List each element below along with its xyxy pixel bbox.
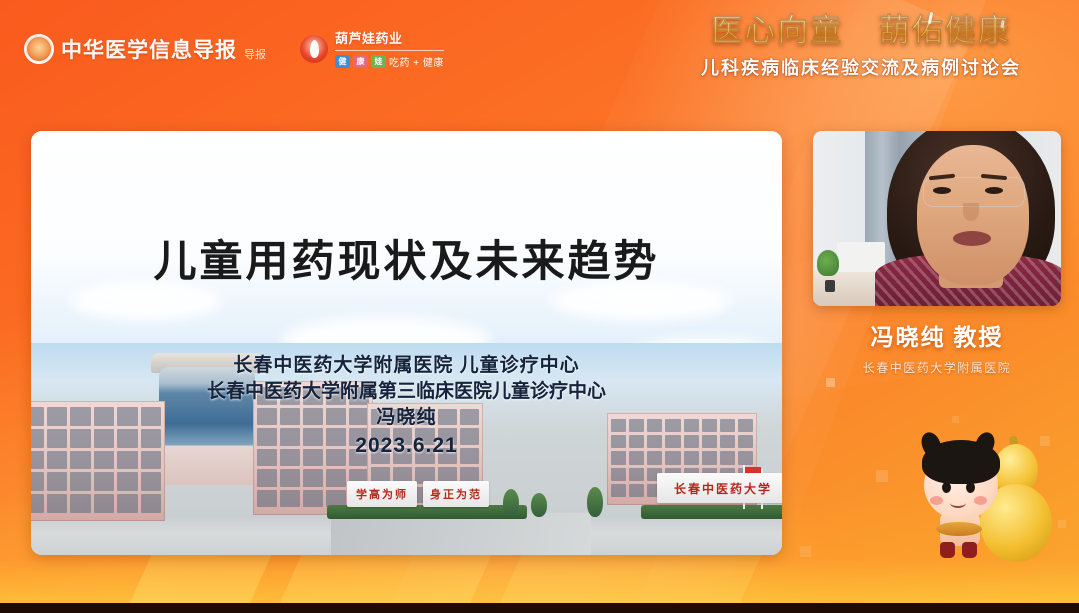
logo-china-medical-tribune-text: 中华医学信息导报 xyxy=(61,34,237,64)
mascot-leaf-skirt xyxy=(936,522,982,536)
event-title-part2: 葫佑健康 xyxy=(879,13,1011,48)
mascot-cheek xyxy=(974,496,987,505)
event-title-part1: 医心向童 xyxy=(711,13,843,48)
slide-title: 儿童用药现状及未来趋势 xyxy=(31,227,782,289)
campus-sign-university-text: 长春中医药大学 xyxy=(674,480,772,497)
logo-sponsor-gourd: 葫芦娃药业 健 康 娃 吃药 + 健康 xyxy=(300,28,444,69)
slide-subtitle-block: 长春中医药大学附属医院 儿童诊疗中心 长春中医药大学附属第三临床医院儿童诊疗中心… xyxy=(31,353,782,461)
sponsor-chip-icon: 健 xyxy=(335,55,350,68)
presentation-slide[interactable]: 儿童用药现状及未来趋势 xyxy=(31,131,782,555)
campus-hedge xyxy=(327,505,527,519)
mascot-cheek xyxy=(930,496,943,505)
speaker-eye xyxy=(933,187,951,194)
header-logo-row: 中华医学信息导报 导报 葫芦娃药业 健 康 娃 吃药 + 健康 xyxy=(24,28,444,69)
campus-sign-motto-1-text: 学高为师 xyxy=(356,486,408,502)
mascot-eye xyxy=(966,482,975,493)
event-banner: 医心向童 葫佑健康 儿科疾病临床经验交流及病例讨论会 xyxy=(661,14,1061,80)
campus-sign-motto-2: 身正为范 xyxy=(423,481,489,507)
emblem-seal-icon xyxy=(24,34,54,64)
sponsor-chip-icon: 娃 xyxy=(371,55,386,68)
gourd-drop-icon xyxy=(300,35,328,63)
mascot-mouth xyxy=(950,498,966,508)
mascot-eye xyxy=(942,482,951,493)
speaker-video-feed[interactable] xyxy=(813,131,1061,306)
campus-tree xyxy=(531,493,547,517)
campus-tree xyxy=(503,489,519,517)
campus-tree xyxy=(587,487,603,517)
slide-subtitle-line-2: 长春中医药大学附属第三临床医院儿童诊疗中心 xyxy=(31,379,782,405)
campus-sign-motto-1: 学高为师 xyxy=(347,481,417,507)
mascot-hair xyxy=(922,440,1000,484)
background-particle xyxy=(876,470,888,482)
background-particle xyxy=(826,378,835,387)
campus-road xyxy=(331,513,591,555)
campus-sign-motto-2-text: 身正为范 xyxy=(430,486,482,502)
mascot-boot xyxy=(940,542,955,558)
slide-subtitle-line-1: 长春中医药大学附属医院 儿童诊疗中心 xyxy=(31,353,782,379)
speaker-name: 冯晓纯 教授 xyxy=(813,318,1061,352)
speaker-organization: 长春中医药大学附属医院 xyxy=(813,359,1061,376)
campus-sign-university: 长春中医药大学 xyxy=(657,473,782,503)
calabash-boy-mascot-icon xyxy=(916,438,1066,568)
speaker-eye xyxy=(985,187,1003,194)
video-background-plant xyxy=(817,250,839,276)
logo-china-medical-tribune-suffix: 导报 xyxy=(244,46,266,64)
background-particle xyxy=(952,416,959,423)
slide-subtitle-line-4: 2023.6.21 xyxy=(31,432,782,461)
slide-subtitle-line-3: 冯晓纯 xyxy=(31,405,782,431)
broadcast-screen: 中华医学信息导报 导报 葫芦娃药业 健 康 娃 吃药 + 健康 医心向童 葫佑健… xyxy=(0,0,1079,613)
logo-divider xyxy=(335,50,444,51)
screen-bottom-frame xyxy=(0,603,1079,613)
background-particle xyxy=(800,546,811,557)
logo-china-medical-tribune: 中华医学信息导报 导报 xyxy=(24,34,266,64)
speaker-caption: 冯晓纯 教授 长春中医药大学附属医院 xyxy=(813,318,1061,376)
logo-sponsor-text-block: 葫芦娃药业 健 康 娃 吃药 + 健康 xyxy=(335,28,444,69)
sponsor-chip-icon: 康 xyxy=(353,55,368,68)
event-title: 医心向童 葫佑健康 xyxy=(661,14,1061,48)
mascot-boot xyxy=(962,542,977,558)
speaker-mouth xyxy=(953,231,991,246)
logo-sponsor-chip-row: 健 康 娃 吃药 + 健康 xyxy=(335,54,444,69)
video-background-object xyxy=(825,280,835,292)
logo-sponsor-tagline: 吃药 + 健康 xyxy=(389,54,444,69)
event-subtitle: 儿科疾病临床经验交流及病例讨论会 xyxy=(661,54,1061,80)
logo-sponsor-name: 葫芦娃药业 xyxy=(335,28,444,47)
speaker-nose xyxy=(963,203,979,221)
